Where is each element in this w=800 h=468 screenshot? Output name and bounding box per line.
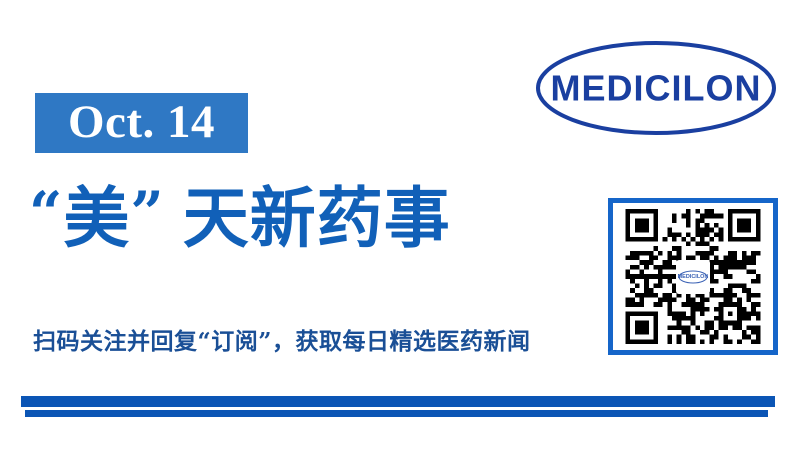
- headline-open-quote: “: [29, 179, 63, 247]
- headline-close-quote: ”: [130, 179, 164, 247]
- subtitle-cta: 扫码关注并回复“订阅”，获取每日精选医药新闻: [33, 328, 530, 356]
- date-badge: Oct. 14: [35, 93, 248, 153]
- logo-wordmark: MEDICILON: [551, 68, 762, 109]
- page-title: “美”天新药事: [29, 182, 451, 255]
- date-badge-label: Oct. 14: [68, 99, 215, 146]
- qr-center-logo: MEDICILON: [676, 260, 710, 294]
- qr-logo-wordmark: MEDICILON: [678, 274, 708, 280]
- qr-code-canvas: MEDICILON: [619, 209, 767, 344]
- headline-rest: 天新药事: [183, 179, 451, 257]
- qr-code-block[interactable]: MEDICILON: [608, 198, 778, 355]
- headline-emphasis: 美: [63, 179, 130, 257]
- divider-rule-top: [21, 396, 775, 407]
- medicilon-logo: MEDICILON: [534, 38, 778, 138]
- poster-canvas: Oct. 14 MEDICILON “美”天新药事 扫码关注并回复“订阅”，获取…: [0, 0, 800, 468]
- divider-rule-bottom: [25, 410, 768, 417]
